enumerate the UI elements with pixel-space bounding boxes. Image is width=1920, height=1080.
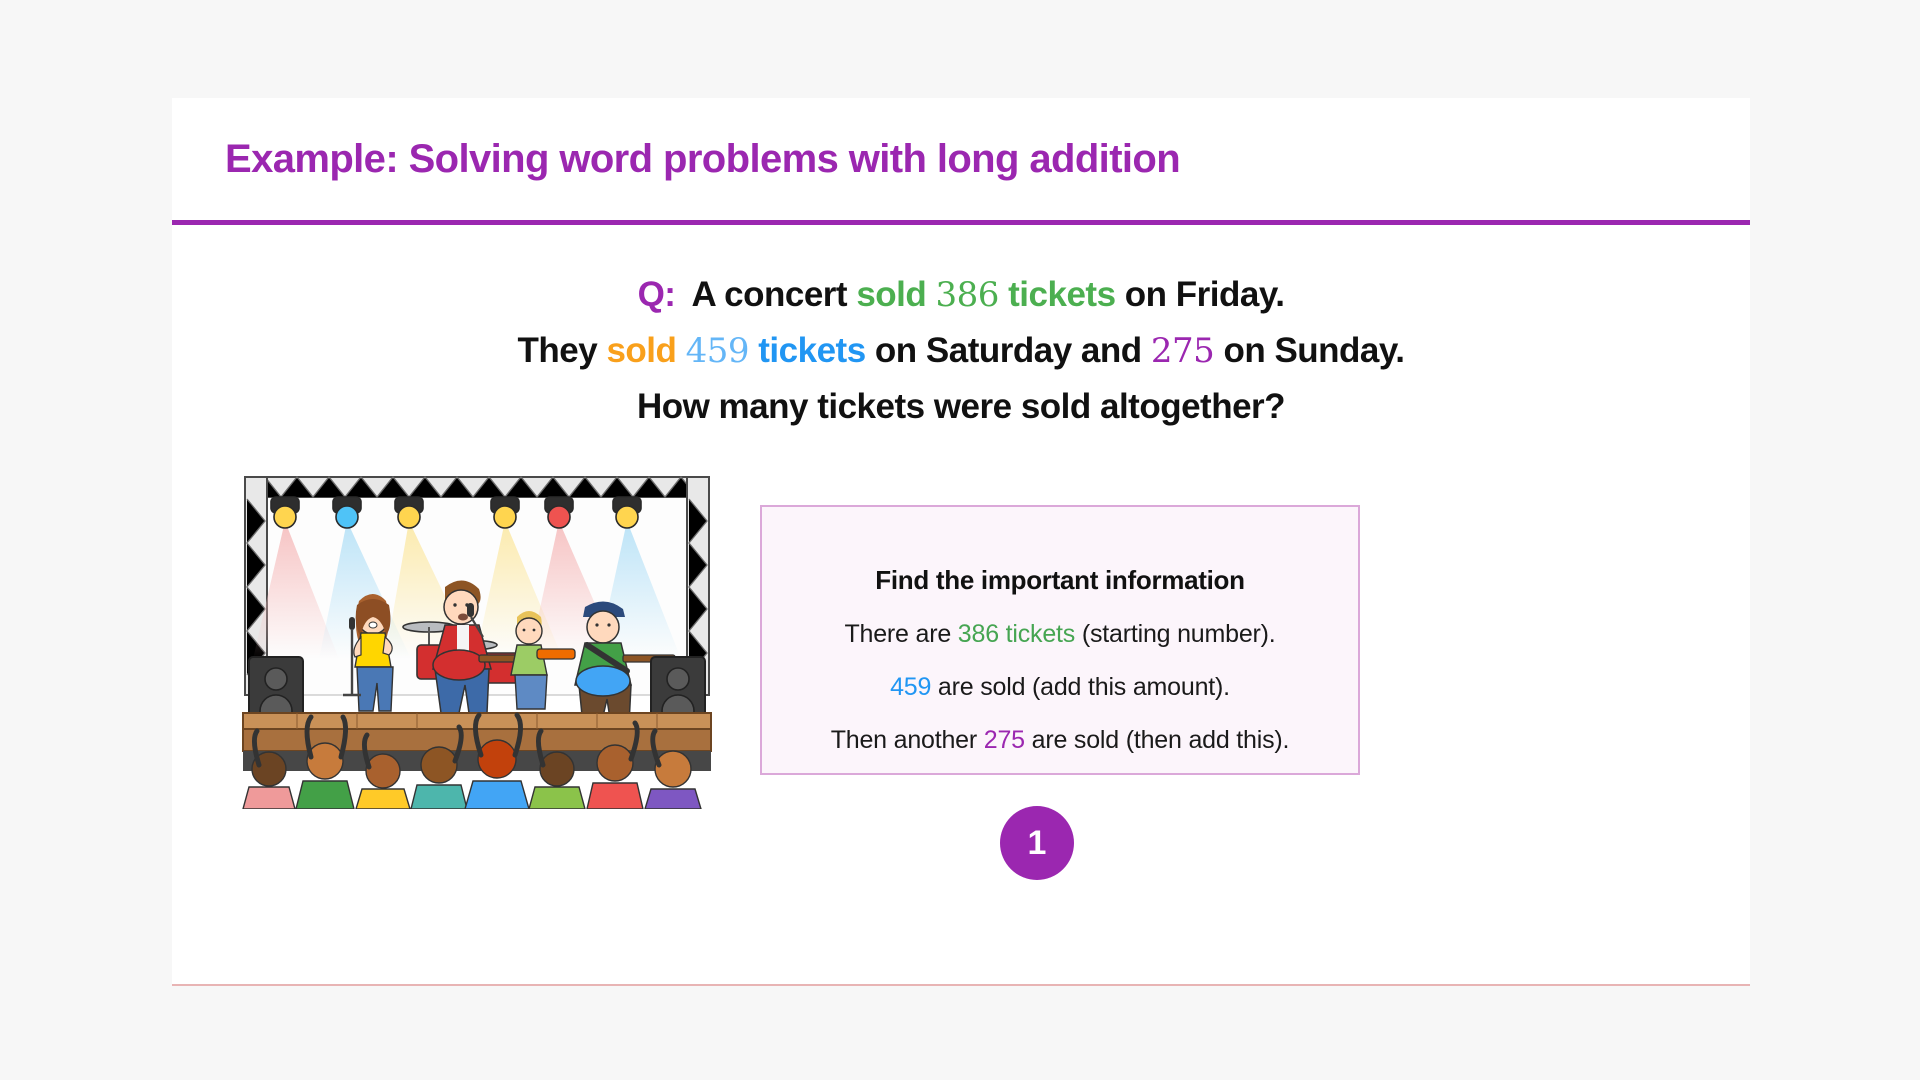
step-heading: Find the important information bbox=[762, 565, 1358, 596]
step-number-badge: 1 bbox=[1000, 806, 1074, 880]
step-line-1-value: 386 tickets bbox=[958, 620, 1075, 648]
question-line-2: They sold 459 tickets on Saturday and 27… bbox=[172, 323, 1750, 379]
step-line-3-pre: Then another bbox=[831, 726, 984, 754]
question-line-3: How many tickets were sold altogether? bbox=[172, 379, 1750, 435]
slide-header: Example: Solving word problems with long… bbox=[172, 98, 1750, 225]
question-line-1: Q:A concert sold 386 tickets on Friday. bbox=[172, 267, 1750, 323]
step-line-3-post: are sold (then add this). bbox=[1025, 726, 1289, 754]
question-line1-text-a: A concert bbox=[691, 275, 856, 314]
step-line-3: Then another 275 are sold (then add this… bbox=[762, 726, 1358, 755]
concert-illustration bbox=[207, 469, 747, 809]
question-line1-tickets: tickets bbox=[1008, 275, 1115, 314]
step-line-2-value: 459 bbox=[890, 673, 931, 701]
step-line-3-value: 275 bbox=[984, 726, 1025, 754]
question-line1-number: 386 bbox=[936, 275, 999, 315]
step-line-2-post: are sold (add this amount). bbox=[931, 673, 1230, 701]
question-block: Q:A concert sold 386 tickets on Friday. … bbox=[172, 267, 1750, 435]
step-line-1-post: (starting number). bbox=[1075, 620, 1275, 648]
step-line-2: 459 are sold (add this amount). bbox=[762, 673, 1358, 702]
slide-body: 1 Find the important information There a… bbox=[172, 469, 1750, 849]
step-line-1-pre: There are bbox=[844, 620, 957, 648]
question-label: Q: bbox=[638, 275, 676, 314]
page-title: Example: Solving word problems with long… bbox=[225, 137, 1180, 182]
question-line2-sold: sold bbox=[606, 331, 676, 370]
question-line2-tail: on Sunday. bbox=[1214, 331, 1404, 370]
question-line2-mid: on Saturday and bbox=[866, 331, 1151, 370]
question-line2-number: 459 bbox=[686, 331, 749, 371]
slide: Example: Solving word problems with long… bbox=[172, 98, 1750, 986]
step-panel: Find the important information There are… bbox=[760, 505, 1360, 775]
step-line-1: There are 386 tickets (starting number). bbox=[762, 620, 1358, 649]
question-line2-they: They bbox=[518, 331, 607, 370]
question-line1-sold: sold bbox=[856, 275, 926, 314]
question-line1-tail: on Friday. bbox=[1125, 275, 1285, 314]
question-line2-tickets: tickets bbox=[758, 331, 865, 370]
question-line2-number2: 275 bbox=[1151, 331, 1214, 371]
